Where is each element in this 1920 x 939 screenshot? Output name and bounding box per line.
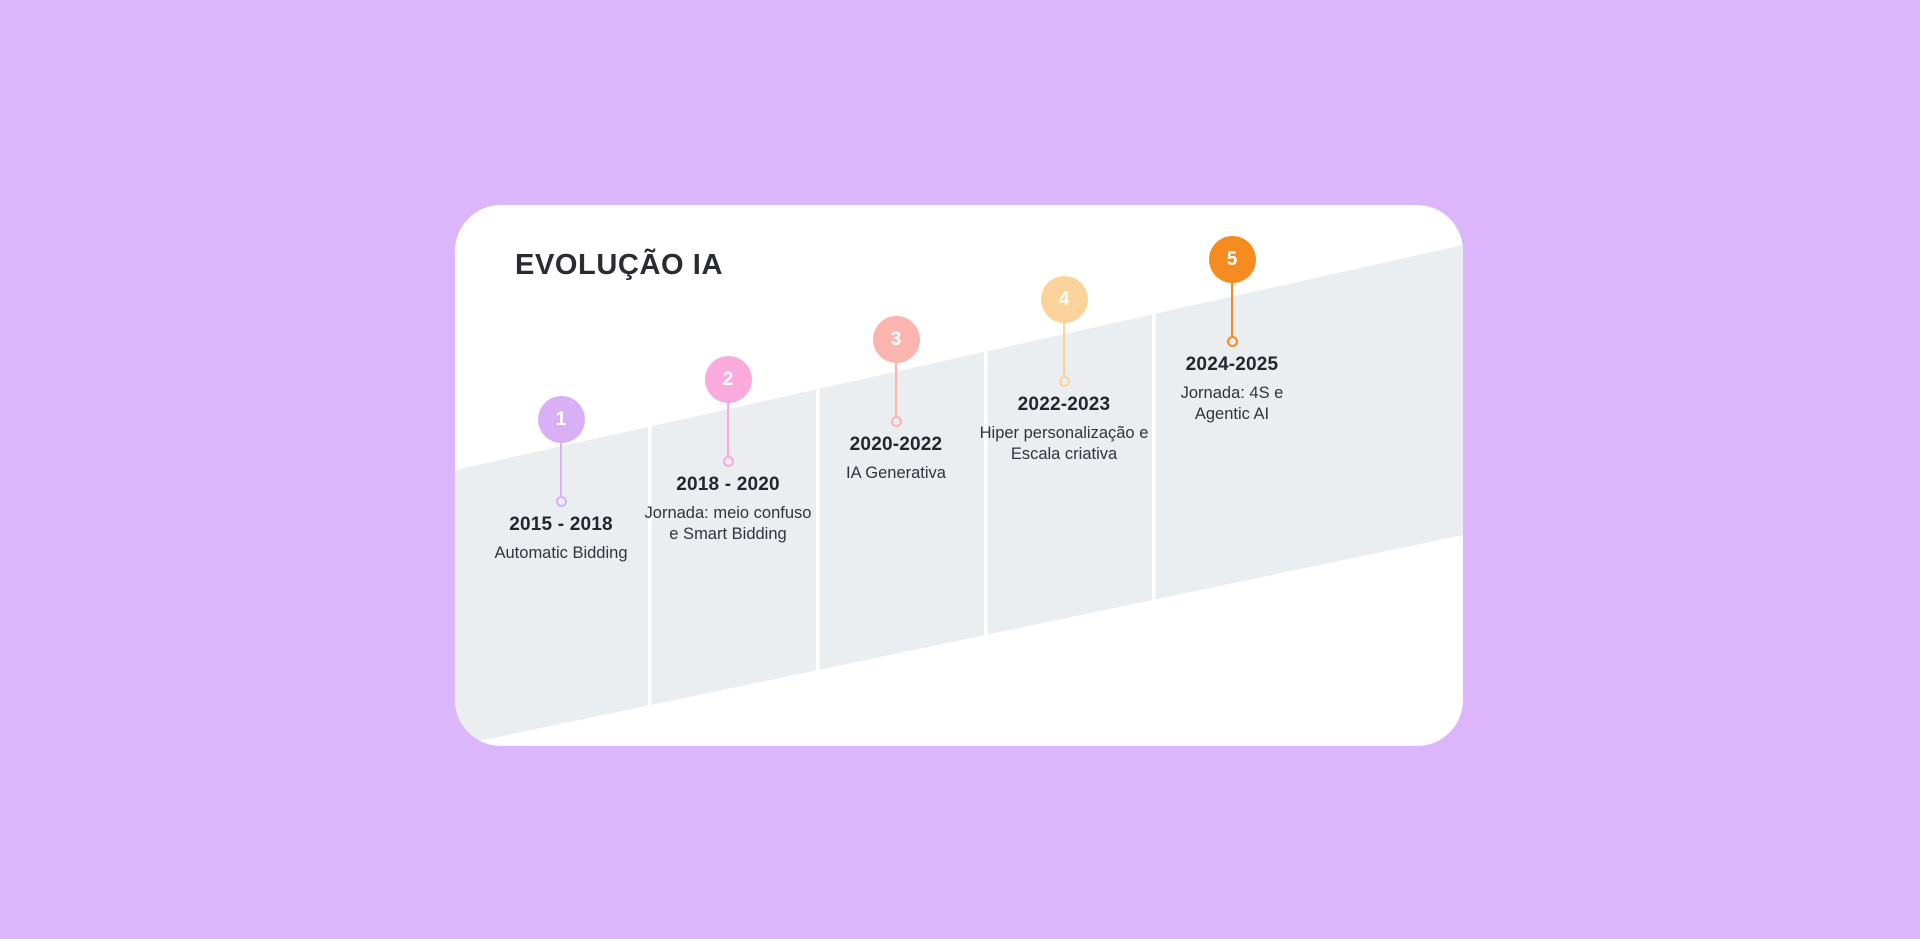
timeline-stem-3 (895, 363, 897, 416)
timeline-year-2: 2018 - 2020 (642, 474, 814, 496)
timeline-enddot-5 (1227, 336, 1238, 347)
timeline-enddot-4 (1059, 376, 1070, 387)
timeline-description-3: IA Generativa (796, 463, 996, 484)
timeline-description-1: Automatic Bidding (461, 543, 661, 564)
timeline-description-4: Hiper personalização e Escala criativa (975, 423, 1153, 466)
timeline-label-5: 2024-2025 Jornada: 4S e Agentic AI (1152, 354, 1312, 426)
timeline-label-1: 2015 - 2018 Automatic Bidding (461, 514, 661, 564)
timeline-year-3: 2020-2022 (796, 434, 996, 456)
timeline-enddot-3 (891, 416, 902, 427)
timeline-stem-2 (727, 403, 729, 456)
timeline-stem-1 (560, 443, 562, 496)
timeline-marker-3[interactable]: 3 (873, 316, 920, 363)
timeline-year-1: 2015 - 2018 (461, 514, 661, 536)
page-title: EVOLUÇÃO IA (515, 249, 723, 282)
timeline-label-3: 2020-2022 IA Generativa (796, 434, 996, 484)
timeline-marker-5[interactable]: 5 (1209, 236, 1256, 283)
timeline-marker-number: 2 (723, 369, 734, 390)
timeline-enddot-1 (556, 496, 567, 507)
timeline-year-4: 2022-2023 (975, 394, 1153, 416)
timeline-description-5: Jornada: 4S e Agentic AI (1152, 383, 1312, 426)
timeline-marker-4[interactable]: 4 (1041, 276, 1088, 323)
slide-canvas: EVOLUÇÃO IA 1 2015 - 2018 Automatic Bidd… (0, 0, 1920, 939)
timeline-marker-2[interactable]: 2 (705, 356, 752, 403)
timeline-marker-number: 1 (556, 409, 567, 430)
timeline-card: EVOLUÇÃO IA 1 2015 - 2018 Automatic Bidd… (455, 205, 1463, 746)
timeline-stem-5 (1231, 283, 1233, 336)
timeline-year-5: 2024-2025 (1152, 354, 1312, 376)
timeline-marker-number: 3 (891, 329, 902, 350)
timeline-marker-number: 5 (1227, 249, 1238, 270)
timeline-enddot-2 (723, 456, 734, 467)
timeline-marker-1[interactable]: 1 (538, 396, 585, 443)
timeline-label-2: 2018 - 2020 Jornada: meio confuso e Smar… (642, 474, 814, 546)
timeline-stem-4 (1063, 323, 1065, 376)
timeline-marker-number: 4 (1059, 289, 1070, 310)
timeline-label-4: 2022-2023 Hiper personalização e Escala … (975, 394, 1153, 466)
timeline-description-2: Jornada: meio confuso e Smart Bidding (642, 503, 814, 546)
